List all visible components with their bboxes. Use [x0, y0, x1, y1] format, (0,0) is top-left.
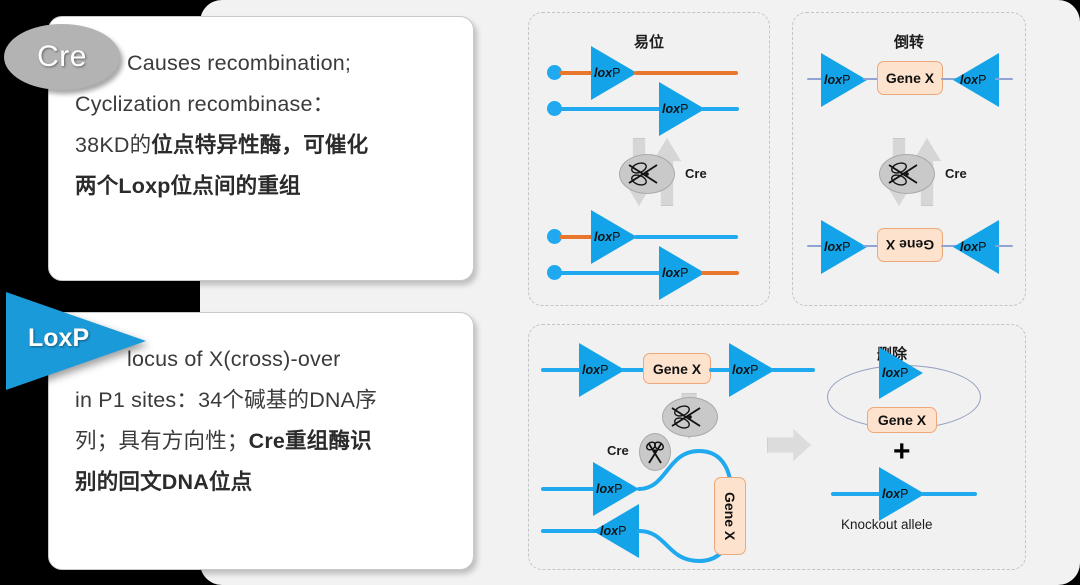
loxp-site-label: loxP: [594, 66, 620, 80]
cre-label: Cre: [945, 166, 967, 181]
dna-segment-pale: [995, 245, 1013, 247]
loxp-site-label: loxP: [882, 366, 908, 380]
scissors-icon: [619, 154, 675, 194]
dna-segment-orange: [701, 271, 739, 275]
loxp-site-icon: loxP: [879, 467, 925, 521]
cre-line-3-plain: 38KD的: [75, 133, 151, 157]
plus-sign: +: [893, 437, 911, 467]
loxp-site-icon: loxP: [953, 220, 999, 274]
panel-translocation-title: 易位: [529, 31, 769, 52]
panel-translocation: 易位 loxP loxP: [528, 12, 770, 306]
gene-box-vertical: Gene X: [714, 477, 746, 555]
dna-segment-orange: [634, 71, 738, 75]
loxp-site-icon: loxP: [659, 246, 705, 300]
cre-line-2: Cyclization recombinase：: [75, 92, 334, 116]
dna-segment-blue: [921, 492, 977, 496]
loxp-site-label: loxP: [824, 73, 850, 87]
loxp-badge-label: LoxP: [28, 324, 89, 353]
cre-badge-label: Cre: [37, 40, 87, 74]
loxp-site-label: loxP: [596, 482, 622, 496]
loxp-site-label: loxP: [960, 73, 986, 87]
loxp-line-1: locus of X(cross)-over: [127, 347, 340, 371]
loxp-site-label: loxP: [582, 363, 608, 377]
dna-segment-blue: [541, 529, 599, 533]
loxp-site-icon: loxP: [953, 53, 999, 107]
panel-inversion: 倒转 loxP Gene X loxP: [792, 12, 1026, 306]
loxp-site-icon: loxP: [591, 46, 637, 100]
scissors-glyph: [887, 161, 927, 187]
loxp-site-icon: loxP: [591, 210, 637, 264]
loxp-badge: LoxP: [6, 292, 146, 390]
panel-inversion-title: 倒转: [793, 31, 1025, 52]
dna-segment-blue: [621, 368, 645, 372]
loxp-site-label: loxP: [824, 240, 850, 254]
arrow-right-icon: [767, 429, 811, 461]
scissors-glyph: [670, 404, 710, 430]
dna-segment-blue: [559, 107, 665, 111]
dna-segment-blue: [634, 235, 738, 239]
loxp-site-label: loxP: [594, 230, 620, 244]
dna-segment-blue: [541, 487, 599, 491]
dna-segment-blue: [771, 368, 815, 372]
loxp-site-icon: loxP: [729, 343, 775, 397]
gene-box: Gene X: [877, 61, 943, 95]
cre-badge: Cre: [4, 24, 120, 90]
loxp-site-label: loxP: [662, 102, 688, 116]
loxp-site-icon: loxP: [821, 53, 867, 107]
cre-label: Cre: [607, 443, 629, 458]
scissors-glyph: [627, 161, 667, 187]
loxp-line-3-bold: Cre重组酶识: [249, 429, 372, 453]
loxp-site-icon: loxP: [821, 220, 867, 274]
panel-deletion: 删除 loxP Gene X loxP Cre: [528, 324, 1026, 570]
loxp-site-label: loxP: [882, 487, 908, 501]
loxp-site-icon: loxP: [579, 343, 625, 397]
gene-box-label: Gene X: [886, 70, 934, 86]
loxp-site-icon: loxP: [879, 347, 923, 399]
cre-line-3-bold: 位点特异性酶，可催化: [151, 133, 368, 157]
loxp-site-label: loxP: [732, 363, 758, 377]
loxp-line-3-plain: 列；具有方向性；: [75, 429, 249, 453]
gene-box-label: Gene X: [878, 412, 926, 428]
cre-line-4-bold: 两个Loxp位点间的重组: [75, 174, 301, 198]
gene-box-excised: Gene X: [867, 407, 937, 433]
cre-label: Cre: [685, 166, 707, 181]
loxp-site-icon: loxP: [659, 82, 705, 136]
dna-segment-blue: [559, 271, 665, 275]
loxp-line-4-bold: 别的回文DNA位点: [75, 470, 252, 494]
slide-root: Causes recombination; Cyclization recomb…: [0, 0, 1080, 585]
loxp-site-label: loxP: [960, 240, 986, 254]
knockout-allele-caption: Knockout allele: [841, 517, 933, 532]
gene-box: Gene X: [643, 353, 711, 384]
gene-box-label: Gene X: [653, 361, 701, 377]
dna-segment-pale: [995, 78, 1013, 80]
loxp-site-label: loxP: [600, 524, 626, 538]
scissors-icon: [879, 154, 935, 194]
scissors-icon: [662, 397, 718, 437]
gene-box-label: Gene X: [722, 492, 738, 540]
gene-box-inverted: Gene X: [877, 228, 943, 262]
dna-segment-blue: [701, 107, 739, 111]
loxp-site-label: loxP: [662, 266, 688, 280]
loxp-line-2: in P1 sites：34个碱基的DNA序: [75, 388, 377, 412]
cre-line-1: Causes recombination;: [127, 51, 351, 75]
gene-box-label: Gene X: [886, 237, 934, 253]
